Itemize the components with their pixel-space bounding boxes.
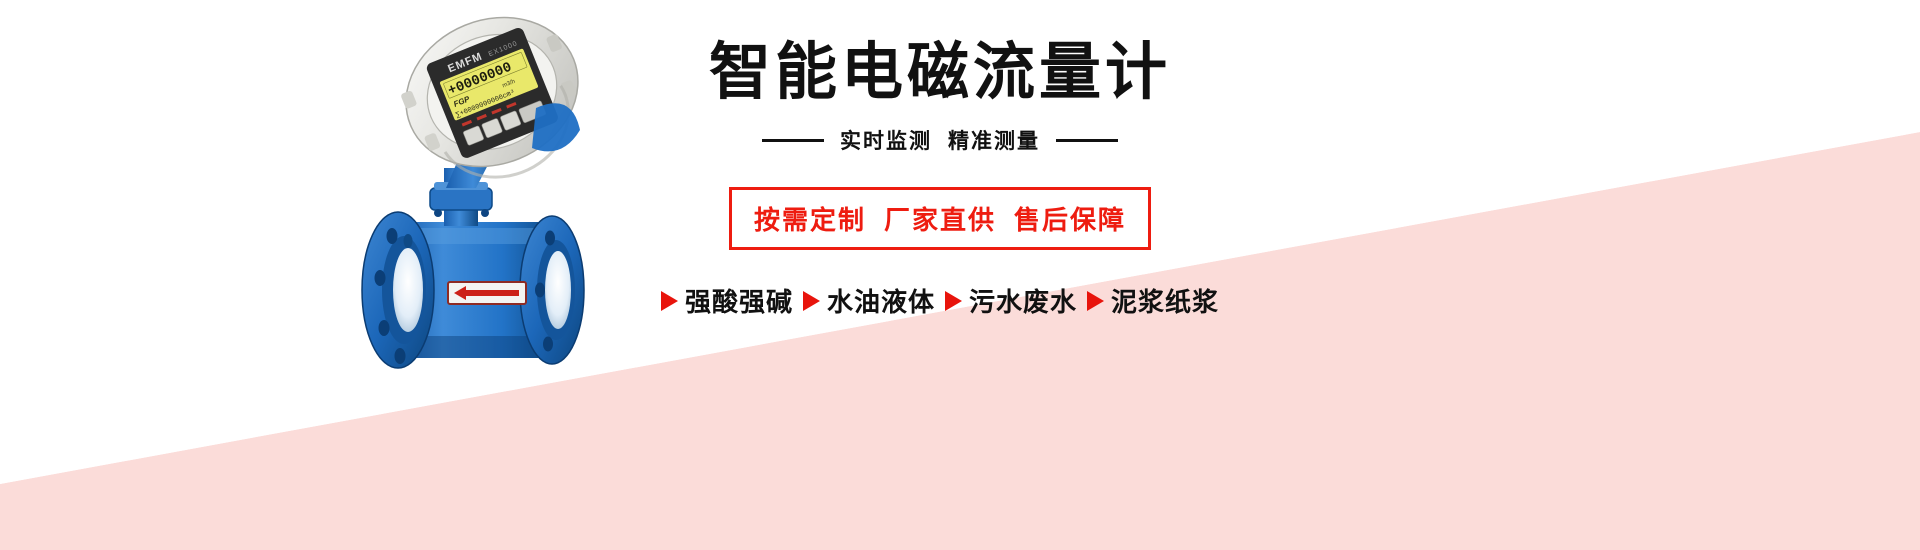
triangle-right-icon <box>945 291 962 311</box>
promo-text: 按需定制厂家直供售后保障 <box>754 200 1126 237</box>
promo-part-1: 按需定制 <box>754 205 866 235</box>
transmitter-housing: EMFM EX1000 +0000000 FGP m3/h ∑+00000000… <box>383 0 605 204</box>
subtitle-part-2: 精准测量 <box>948 130 1040 153</box>
triangle-right-icon <box>803 291 820 311</box>
application-label: 泥浆纸浆 <box>1111 282 1219 319</box>
application-item: 水油液体 <box>803 282 935 319</box>
flow-direction-arrow-icon <box>448 282 526 304</box>
subtitle-text: 实时监测精准测量 <box>840 125 1040 155</box>
triangle-right-icon <box>1087 291 1104 311</box>
application-item: 泥浆纸浆 <box>1087 282 1219 319</box>
application-label: 水油液体 <box>827 282 935 319</box>
page-title: 智能电磁流量计 <box>660 40 1220 105</box>
triangle-right-icon <box>661 291 678 311</box>
applications-row: 强酸强碱 水油液体 污水废水 泥浆纸浆 <box>660 282 1220 319</box>
promo-part-2: 厂家直供 <box>884 205 996 235</box>
promo-part-3: 售后保障 <box>1014 205 1126 235</box>
application-item: 强酸强碱 <box>661 282 793 319</box>
product-banner: EMFM EX1000 +0000000 FGP m3/h ∑+00000000… <box>0 0 1920 550</box>
flange-left <box>362 212 434 368</box>
subtitle-part-1: 实时监测 <box>840 130 932 153</box>
subtitle-rule-right <box>1056 139 1118 142</box>
flange-right <box>520 216 584 364</box>
subtitle-row: 实时监测精准测量 <box>660 125 1220 155</box>
application-label: 污水废水 <box>969 282 1077 319</box>
banner-copy: 智能电磁流量计 实时监测精准测量 按需定制厂家直供售后保障 强酸强碱 水油液体 … <box>660 40 1220 319</box>
application-item: 污水废水 <box>945 282 1077 319</box>
application-label: 强酸强碱 <box>685 282 793 319</box>
subtitle-rule-left <box>762 139 824 142</box>
promo-badge: 按需定制厂家直供售后保障 <box>729 187 1151 250</box>
product-image-electromagnetic-flowmeter: EMFM EX1000 +0000000 FGP m3/h ∑+00000000… <box>300 0 630 430</box>
